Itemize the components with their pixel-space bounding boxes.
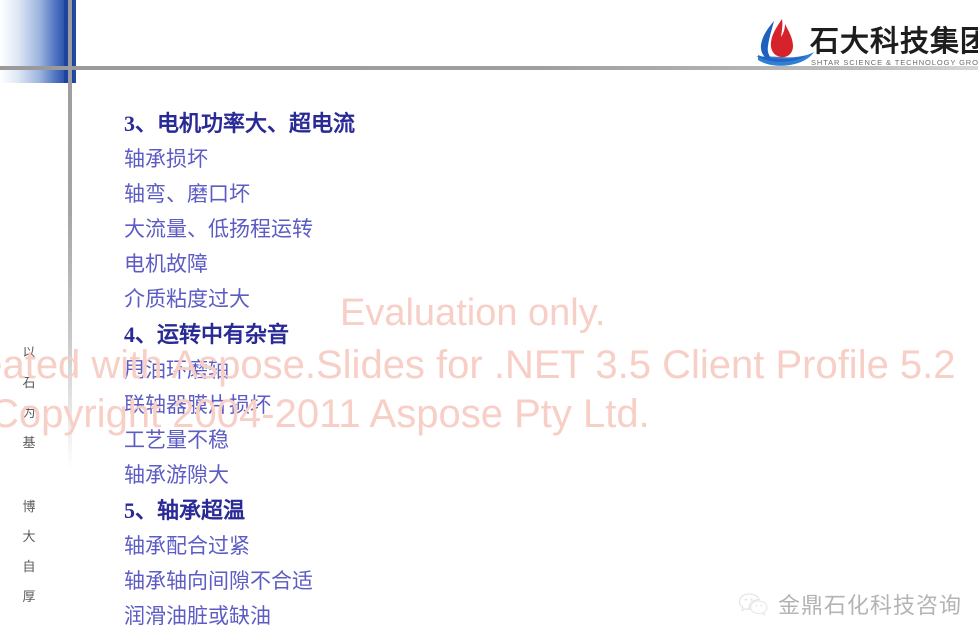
- section-item: 甩油环磨轴: [124, 353, 764, 388]
- section-item: 联轴器膜片损坏: [124, 388, 764, 423]
- slide-canvas: 石大科技集团 SHTAR SCIENCE & TECHNOLOGY GROUP …: [0, 0, 978, 637]
- section-heading: 3、电机功率大、超电流: [124, 106, 764, 142]
- section-item: 润滑油脏或缺油: [124, 599, 764, 634]
- flame-swoosh-logo-icon: [752, 16, 818, 68]
- logo-company-name-cn: 石大科技集团: [810, 18, 978, 60]
- decorative-gradient-block: [0, 0, 64, 83]
- slogan-char: 石: [18, 368, 40, 398]
- slogan-char: 厚: [18, 582, 40, 612]
- slogan-char: 自: [18, 552, 40, 582]
- slogan-char: 为: [18, 398, 40, 428]
- section-heading: 5、轴承超温: [124, 493, 764, 529]
- wechat-credit: 金鼎石化科技咨询: [738, 587, 962, 621]
- section-item: 轴弯、磨口坏: [124, 177, 764, 212]
- section-item: 轴承配合过紧: [124, 529, 764, 564]
- section-item: 电机故障: [124, 247, 764, 282]
- section-item: 轴承轴向间隙不合适: [124, 564, 764, 599]
- vertical-divider: [68, 0, 72, 470]
- slogan-line-1: 以 石 为 基: [18, 338, 40, 458]
- company-logo: 石大科技集团 SHTAR SCIENCE & TECHNOLOGY GROUP: [752, 14, 970, 74]
- slogan-line-2: 博 大 自 厚: [18, 492, 40, 612]
- wechat-credit-text: 金鼎石化科技咨询: [778, 588, 962, 620]
- slogan-char: 博: [18, 492, 40, 522]
- slogan-char: 大: [18, 522, 40, 552]
- section-item: 大流量、低扬程运转: [124, 212, 764, 247]
- section-item: 轴承损坏: [124, 142, 764, 177]
- section-item: 轴承游隙大: [124, 458, 764, 493]
- wechat-icon: [738, 591, 768, 617]
- section-item: 介质粘度过大: [124, 282, 764, 317]
- slide-body: 3、电机功率大、超电流 轴承损坏 轴弯、磨口坏 大流量、低扬程运转 电机故障 介…: [124, 106, 764, 637]
- section-item: 工艺量不稳: [124, 423, 764, 458]
- slogan-char: 基: [18, 428, 40, 458]
- logo-company-name-en: SHTAR SCIENCE & TECHNOLOGY GROUP: [811, 58, 978, 67]
- section-heading: 4、运转中有杂音: [124, 317, 764, 353]
- slogan-char: 以: [18, 338, 40, 368]
